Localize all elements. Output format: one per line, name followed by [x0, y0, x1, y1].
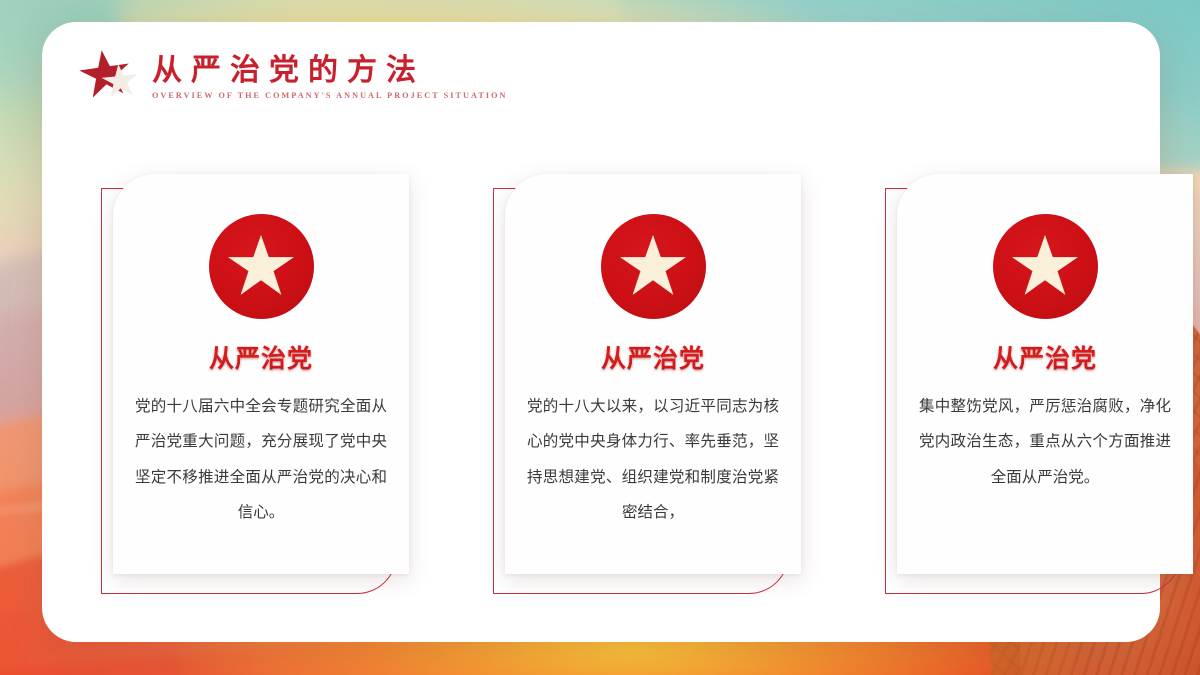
card-body-text: 党的十八大以来，以习近平同志为核心的党中央身体力行、率先垂范，坚持思想建党、组织…: [527, 389, 779, 530]
card-heading: 从严治党: [601, 339, 705, 375]
card-heading: 从严治党: [993, 339, 1097, 375]
card-body-text: 集中整饬党风，严厉惩治腐败，净化党内政治生态，重点从六个方面推进全面从严治党。: [919, 389, 1171, 495]
info-card[interactable]: 从严治党 党的十八大以来，以习近平同志为核心的党中央身体力行、率先垂范，坚持思想…: [493, 174, 813, 594]
card-face: 从严治党 党的十八届六中全会专题研究全面从严治党重大问题，充分展现了党中央坚定不…: [113, 174, 409, 574]
star-glyph: [228, 235, 294, 298]
star-glyph: [620, 235, 686, 298]
card-face: 从严治党 集中整饬党风，严厉惩治腐败，净化党内政治生态，重点从六个方面推进全面从…: [897, 174, 1193, 574]
red-circle-star-icon: [601, 214, 706, 319]
info-card[interactable]: 从严治党 党的十八届六中全会专题研究全面从严治党重大问题，充分展现了党中央坚定不…: [101, 174, 421, 594]
card-heading: 从严治党: [209, 339, 313, 375]
cards-row: 从严治党 党的十八届六中全会专题研究全面从严治党重大问题，充分展现了党中央坚定不…: [42, 22, 1160, 642]
card-face: 从严治党 党的十八大以来，以习近平同志为核心的党中央身体力行、率先垂范，坚持思想…: [505, 174, 801, 574]
card-body-text: 党的十八届六中全会专题研究全面从严治党重大问题，充分展现了党中央坚定不移推进全面…: [135, 389, 387, 530]
red-circle-star-icon: [209, 214, 314, 319]
star-glyph: [1012, 235, 1078, 298]
red-circle-star-icon: [993, 214, 1098, 319]
slide-panel: 从严治党的方法 OVERVIEW OF THE COMPANY'S ANNUAL…: [42, 22, 1160, 642]
info-card[interactable]: 从严治党 集中整饬党风，严厉惩治腐败，净化党内政治生态，重点从六个方面推进全面从…: [885, 174, 1200, 594]
slide-stage: 从严治党的方法 OVERVIEW OF THE COMPANY'S ANNUAL…: [0, 0, 1200, 675]
